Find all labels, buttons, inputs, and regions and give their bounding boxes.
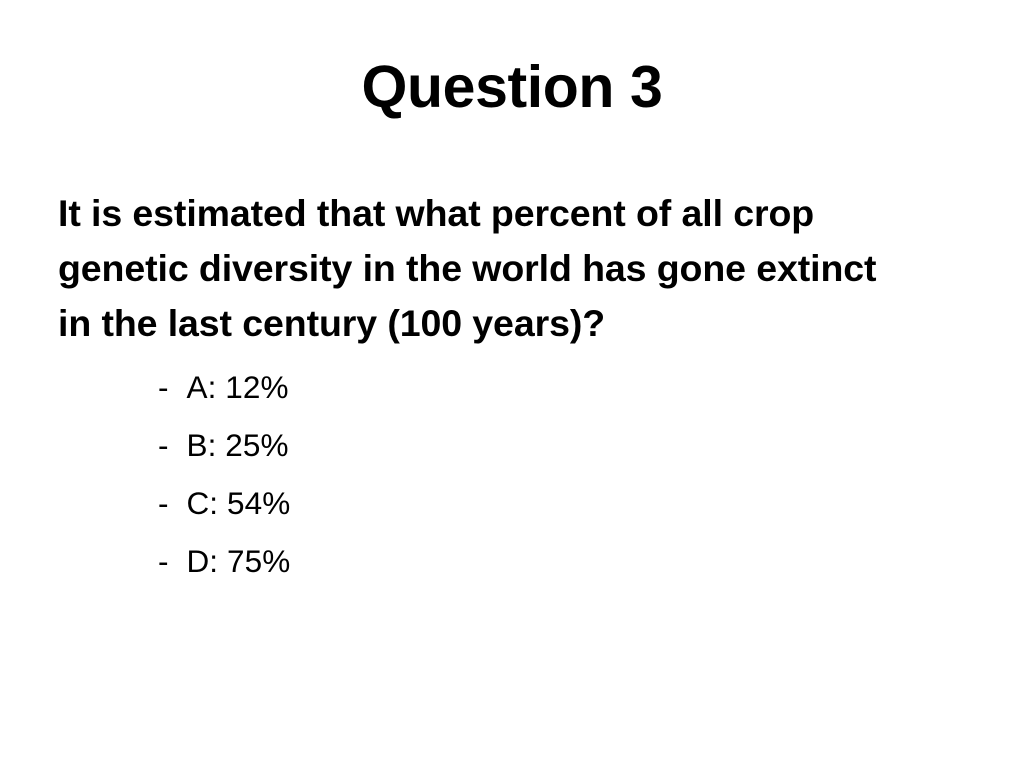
question-line-2: genetic diversity in the world has gone …: [58, 241, 948, 296]
page-title: Question 3: [0, 58, 1024, 117]
question-line-1: It is estimated that what percent of all…: [58, 186, 948, 241]
answer-option-b[interactable]: - B: 25%: [158, 416, 290, 474]
answer-option-a[interactable]: - A: 12%: [158, 358, 290, 416]
question-prompt: It is estimated that what percent of all…: [58, 186, 948, 351]
answer-option-b-label: B: 25%: [186, 416, 288, 474]
answer-option-c-label: C: 54%: [186, 474, 290, 532]
answer-option-a-label: A: 12%: [186, 358, 288, 416]
bullet-dash-icon: -: [158, 474, 169, 532]
answer-option-d-label: D: 75%: [186, 532, 290, 590]
bullet-dash-icon: -: [158, 416, 169, 474]
answer-option-c[interactable]: - C: 54%: [158, 474, 290, 532]
slide-canvas: Question 3 It is estimated that what per…: [0, 0, 1024, 768]
bullet-dash-icon: -: [158, 358, 169, 416]
answer-options-list: - A: 12% - B: 25% - C: 54% - D: 75%: [158, 358, 290, 590]
bullet-dash-icon: -: [158, 532, 169, 590]
answer-option-d[interactable]: - D: 75%: [158, 532, 290, 590]
question-line-3: in the last century (100 years)?: [58, 296, 948, 351]
